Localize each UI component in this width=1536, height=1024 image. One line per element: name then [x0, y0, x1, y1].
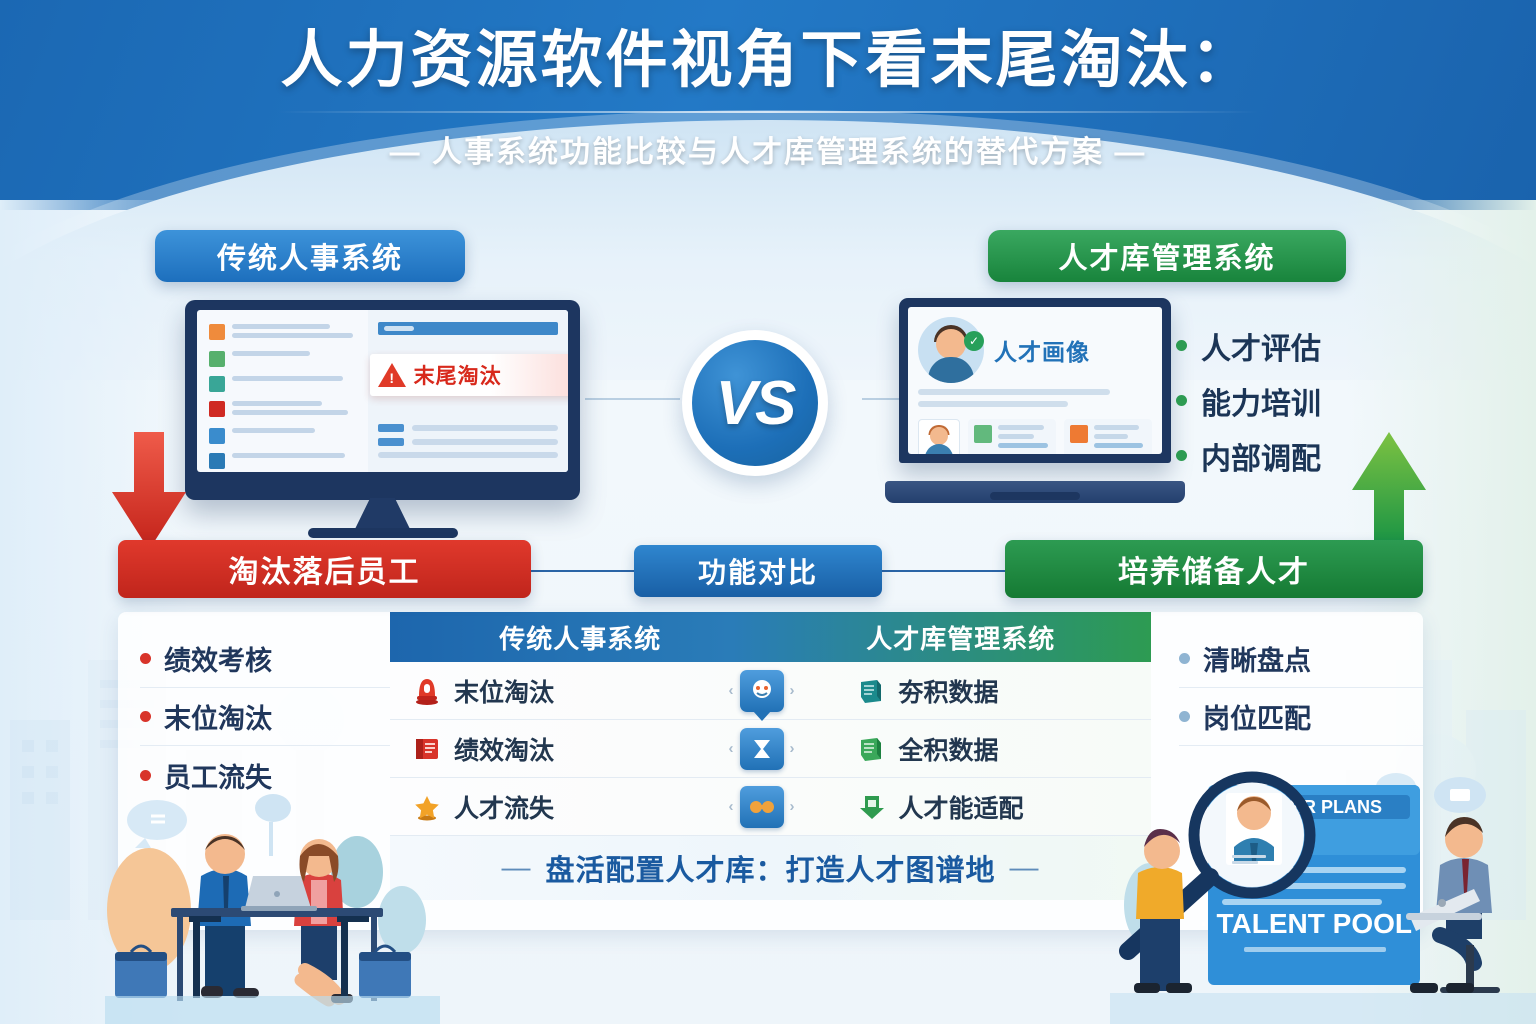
laptop-screen: ✓ 人才画像	[908, 307, 1162, 454]
row-left-cell: 绩效淘汰	[390, 731, 707, 767]
talent-benefits-list: 人才评估 能力培训 内部调配	[1176, 318, 1321, 483]
monitor-stand-base	[308, 528, 458, 538]
tagline-dash-right: —	[1010, 852, 1040, 885]
cultivate-banner[interactable]: 培养储备人才	[1005, 540, 1423, 598]
feature-comparison-banner[interactable]: 功能对比	[634, 545, 882, 597]
chevron-right-icon: ›	[790, 682, 795, 699]
row-left-label: 末位淘汰	[454, 673, 554, 709]
vs-label: VS	[692, 340, 818, 466]
issue-label: 绩效考核	[164, 639, 272, 678]
table-row: 末位淘汰 ‹ ›	[390, 662, 1151, 720]
laptop-trackpad	[990, 492, 1080, 500]
vs-connector-left	[585, 398, 680, 400]
vs-badge: VS	[682, 330, 828, 476]
infographic-canvas: 人力资源软件视角下看末尾淘汰： — 人事系统功能比较与人才库管理系统的替代方案 …	[0, 0, 1536, 1024]
monitor-screen: 末尾淘汰	[197, 310, 568, 472]
red-document-icon	[412, 735, 442, 763]
elimination-warning-banner: 末尾淘汰	[370, 354, 568, 396]
row-right-cell: 全积数据	[817, 731, 1152, 767]
monitor-list-pane	[197, 310, 368, 472]
warning-triangle-icon	[378, 363, 406, 387]
issue-label: 末位淘汰	[164, 697, 272, 736]
column-header-traditional: 传统人事系统	[390, 612, 771, 662]
traditional-system-monitor: 末尾淘汰	[185, 300, 580, 500]
row-right-label: 夯积数据	[899, 673, 999, 709]
laptop-line-1	[918, 389, 1110, 395]
tagline-dash-left: —	[501, 852, 531, 885]
talent-benefit-label: 内部调配	[1201, 434, 1321, 478]
red-alarm-icon	[412, 677, 442, 705]
up-arrow-icon	[1348, 432, 1430, 550]
table-row: 人才流失 ‹ ›	[390, 778, 1151, 836]
laptop-lid: ✓ 人才画像	[899, 298, 1171, 463]
chevron-right-icon: ›	[790, 798, 795, 815]
row-right-cell: 人才能适配	[817, 789, 1152, 825]
bullet-dot-icon	[140, 770, 151, 781]
banner-connector-left	[531, 570, 636, 572]
talent-pool-system-pill[interactable]: 人才库管理系统	[988, 230, 1346, 282]
list-item: 末位淘汰	[140, 688, 390, 746]
bullet-dot-icon	[1176, 340, 1187, 351]
row-right-cell: 夯积数据	[817, 673, 1152, 709]
page-title: 人力资源软件视角下看末尾淘汰：	[0, 26, 1536, 95]
benefit-label: 岗位匹配	[1203, 697, 1311, 736]
list-item: 清晰盘点	[1179, 630, 1423, 688]
link-icon	[740, 786, 784, 828]
list-item: 岗位匹配	[1179, 688, 1423, 746]
bullet-dot-icon	[140, 711, 151, 722]
laptop-screen-title: 人才画像	[994, 333, 1090, 367]
table-row: 绩效淘汰 ‹ ›	[390, 720, 1151, 778]
laptop-card-green	[968, 419, 1056, 454]
row-compare-widget: ‹ ›	[707, 728, 817, 770]
bullet-dot-icon	[1179, 711, 1190, 722]
eliminate-banner[interactable]: 淘汰落后员工	[118, 540, 531, 598]
green-chart-icon	[857, 735, 887, 763]
talent-benefit-label: 能力培训	[1201, 379, 1321, 423]
laptop-card-orange	[1064, 419, 1152, 454]
talent-benefit-label: 人才评估	[1201, 324, 1321, 368]
row-left-cell: 末位淘汰	[390, 673, 707, 709]
monitor-footer-rows	[378, 424, 558, 464]
chevron-left-icon: ‹	[729, 682, 734, 699]
green-download-icon	[857, 793, 887, 821]
bullet-dot-icon	[140, 653, 151, 664]
bullet-dot-icon	[1179, 653, 1190, 664]
panel-tagline: — 盘活配置人才库：打造人才图谱地 —	[390, 836, 1151, 900]
laptop-line-2	[918, 401, 1068, 407]
interview-meeting-illustration	[105, 780, 440, 1024]
face-compare-icon	[740, 670, 784, 712]
benefit-label: 清晰盘点	[1203, 639, 1311, 678]
comparison-table: 传统人事系统 人才库管理系统 末位淘汰 ‹	[390, 612, 1151, 930]
row-left-label: 绩效淘汰	[454, 731, 554, 767]
chevron-left-icon: ‹	[729, 740, 734, 757]
down-arrow-icon	[108, 432, 190, 550]
check-badge-icon: ✓	[964, 331, 984, 351]
laptop-cards	[918, 419, 1152, 454]
banner-connector-right	[880, 570, 1007, 572]
monitor-frame: 末尾淘汰	[185, 300, 580, 500]
page-subtitle: — 人事系统功能比较与人才库管理系统的替代方案 —	[0, 127, 1536, 171]
row-right-label: 全积数据	[899, 731, 999, 767]
title-block: 人力资源软件视角下看末尾淘汰： — 人事系统功能比较与人才库管理系统的替代方案 …	[0, 26, 1536, 171]
talent-pool-card-title: · TALENT POOL ·	[1199, 908, 1428, 939]
talent-profile-hero: ✓ 人才画像	[918, 317, 1152, 383]
monitor-toolbar	[378, 322, 558, 335]
teal-chart-icon	[857, 677, 887, 705]
hourglass-icon	[740, 728, 784, 770]
tagline-label: 盘活配置人才库：打造人才图谱地	[545, 847, 995, 889]
row-left-label: 人才流失	[454, 789, 554, 825]
talent-pool-laptop: ✓ 人才画像	[885, 298, 1185, 503]
column-header-talent-pool: 人才库管理系统	[771, 612, 1152, 662]
row-compare-widget: ‹ ›	[707, 786, 817, 828]
table-header: 传统人事系统 人才库管理系统	[390, 612, 1151, 662]
warning-label: 末尾淘汰	[414, 360, 502, 390]
traditional-system-pill[interactable]: 传统人事系统	[155, 230, 465, 282]
monitor-detail-pane: 末尾淘汰	[368, 310, 568, 472]
talent-pool-search-illustration: HR PLANS · TALENT POOL ·	[1110, 755, 1536, 1024]
row-compare-widget: ‹ ›	[707, 670, 817, 712]
bullet-dot-icon	[1176, 395, 1187, 406]
bullet-dot-icon	[1176, 450, 1187, 461]
chevron-right-icon: ›	[790, 740, 795, 757]
title-divider	[278, 111, 1258, 113]
mini-avatar	[918, 419, 960, 454]
row-right-label: 人才能适配	[899, 789, 1024, 825]
chevron-left-icon: ‹	[729, 798, 734, 815]
list-item: 绩效考核	[140, 630, 390, 688]
